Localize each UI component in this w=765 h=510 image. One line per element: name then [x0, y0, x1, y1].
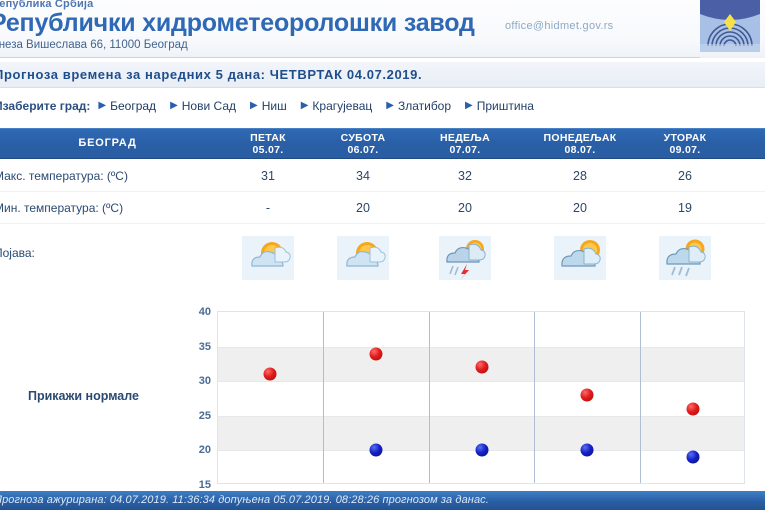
min-temp-value: 20 — [532, 201, 628, 215]
day-name: ПЕТАК — [220, 132, 316, 144]
chart-ytick: 15 — [199, 479, 211, 491]
city-link-zlatibor[interactable]: ▶ Златибор — [386, 99, 451, 113]
min-temp-label: Мин. температура: (ºC) — [0, 201, 123, 215]
weather-forecast-page: Република Србија Републички хидрометеоро… — [0, 0, 765, 510]
chart-point-max — [264, 368, 277, 381]
sun-cloud-thunderstorm-icon — [439, 236, 491, 280]
chart-ytick: 20 — [199, 444, 211, 456]
chart-ytick: 35 — [199, 341, 211, 353]
max-temp-value: 28 — [532, 169, 628, 183]
day-header-2: НЕДЕЉА 07.07. — [417, 132, 513, 156]
chart-ytick: 30 — [199, 375, 211, 387]
chevron-right-icon: ▶ — [301, 101, 309, 111]
city-link-kragujevac[interactable]: ▶ Крагујевац — [301, 99, 373, 113]
city-link-novi-sad[interactable]: ▶ Нови Сад — [170, 99, 236, 113]
chart-ytick: 25 — [199, 410, 211, 422]
chart-point-max — [476, 361, 489, 374]
city-label: Нови Сад — [182, 99, 236, 113]
chevron-right-icon: ▶ — [386, 101, 394, 111]
chevron-right-icon: ▶ — [170, 101, 178, 111]
sun-cloud-icon — [242, 236, 294, 280]
forecast-title: Прогноза времена за наредних 5 дана: ЧЕТ… — [0, 67, 422, 82]
chart-day-separator — [534, 312, 535, 483]
min-temp-value: 20 — [315, 201, 411, 215]
day-header-0: ПЕТАК 05.07. — [220, 132, 316, 156]
chart-day-separator — [640, 312, 641, 483]
chart-day-separator — [429, 312, 430, 483]
chart-gridline — [218, 347, 744, 348]
city-link-nis[interactable]: ▶ Ниш — [250, 99, 287, 113]
day-name: СУБОТА — [315, 132, 411, 144]
forecast-table-header: БЕОГРАД ПЕТАК 05.07. СУБОТА 06.07. НЕДЕЉ… — [0, 128, 765, 159]
max-temp-value: 32 — [417, 169, 513, 183]
forecast-title-bar: Прогноза времена за наредних 5 дана: ЧЕТ… — [0, 62, 765, 88]
day-date: 06.07. — [315, 144, 411, 156]
contact-email[interactable]: office@hidmet.gov.rs — [505, 20, 613, 32]
city-label: Ниш — [262, 99, 287, 113]
chart-point-min — [370, 444, 383, 457]
table-city-header: БЕОГРАД — [0, 137, 215, 149]
chevron-right-icon: ▶ — [250, 101, 258, 111]
chart-point-min — [476, 444, 489, 457]
update-status-text: Прогноза ажурирана: 04.07.2019. 11:36:34… — [0, 494, 489, 506]
day-header-1: СУБОТА 06.07. — [315, 132, 411, 156]
hidmet-logo-icon[interactable] — [700, 0, 760, 52]
chevron-right-icon: ▶ — [98, 101, 106, 111]
day-name: НЕДЕЉА — [417, 132, 513, 144]
min-temp-value: 20 — [417, 201, 513, 215]
table-row-min-temp: Мин. температура: (ºC) - 20 20 20 19 — [0, 192, 765, 224]
city-link-beograd[interactable]: ▶ Београд — [98, 99, 156, 113]
chevron-right-icon: ▶ — [465, 101, 473, 111]
table-row-max-temp: Макс. температура: (ºC) 31 34 32 28 26 — [0, 160, 765, 192]
site-header: Република Србија Републички хидрометеоро… — [0, 0, 765, 58]
chart-gridline — [218, 416, 744, 417]
min-temp-value: - — [220, 201, 316, 215]
max-temp-label: Макс. температура: (ºC) — [0, 169, 128, 183]
sun-cloud-rain-icon — [659, 236, 711, 280]
city-label: Београд — [110, 99, 156, 113]
day-header-3: ПОНЕДЕЉАК 08.07. — [532, 132, 628, 156]
sun-cloud-icon — [554, 236, 606, 280]
chart-point-max — [687, 402, 700, 415]
day-name: УТОРАК — [637, 132, 733, 144]
show-normals-button[interactable]: Прикажи нормале — [28, 389, 139, 403]
max-temp-value: 31 — [220, 169, 316, 183]
city-picker-label: Изаберите град: — [0, 99, 90, 113]
max-temp-value: 34 — [315, 169, 411, 183]
max-temp-value: 26 — [637, 169, 733, 183]
chart-ytick: 40 — [199, 306, 211, 318]
day-header-4: УТОРАК 09.07. — [637, 132, 733, 156]
chart-point-min — [687, 451, 700, 464]
min-temp-value: 19 — [637, 201, 733, 215]
chart-gridline — [218, 381, 744, 382]
institute-address: Кнеза Вишеслава 66, 11000 Београд — [0, 39, 188, 51]
institute-title: Републички хидрометеоролошки завод — [0, 9, 475, 38]
day-date: 08.07. — [532, 144, 628, 156]
day-date: 05.07. — [220, 144, 316, 156]
day-name: ПОНЕДЕЉАК — [532, 132, 628, 144]
header-divider — [0, 57, 700, 58]
chart-day-separator — [323, 312, 324, 483]
city-link-pristina[interactable]: ▶ Приштина — [465, 99, 534, 113]
day-date: 07.07. — [417, 144, 513, 156]
city-label: Златибор — [398, 99, 451, 113]
chart-point-max — [581, 389, 594, 402]
temperature-chart: 40 35 30 25 20 15 — [217, 311, 745, 484]
sun-cloud-icon — [337, 236, 389, 280]
city-label: Приштина — [477, 99, 534, 113]
city-label: Крагујевац — [312, 99, 372, 113]
day-date: 09.07. — [637, 144, 733, 156]
chart-point-max — [370, 347, 383, 360]
city-picker: Изаберите град: ▶ Београд ▶ Нови Сад ▶ Н… — [0, 90, 765, 122]
chart-point-min — [581, 444, 594, 457]
phenomenon-label: Појава: — [0, 246, 35, 260]
status-bar: Прогноза ажурирана: 04.07.2019. 11:36:34… — [0, 491, 765, 510]
table-row-phenomenon: Појава: — [0, 224, 765, 292]
